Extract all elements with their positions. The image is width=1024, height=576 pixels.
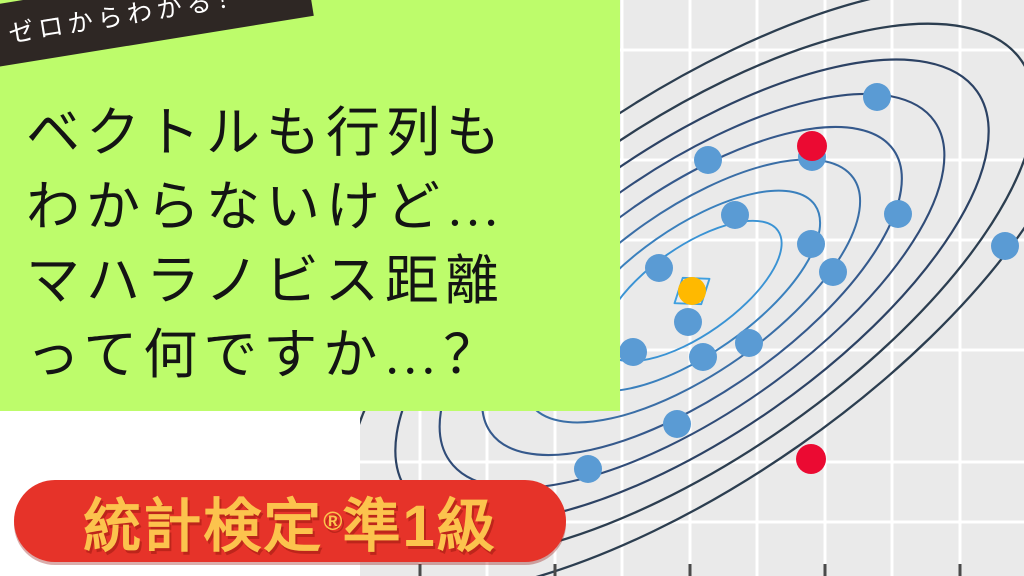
data-point-observations-1 [694, 146, 722, 174]
data-point-outliers-0 [797, 131, 827, 161]
data-point-observations-5 [645, 254, 673, 282]
data-point-observations-13 [663, 410, 691, 438]
data-point-observations-7 [819, 258, 847, 286]
data-point-observations-4 [721, 201, 749, 229]
data-point-observations-12 [735, 329, 763, 357]
scatter-points [574, 83, 1019, 483]
data-point-observations-10 [619, 338, 647, 366]
data-point-observations-14 [574, 455, 602, 483]
badge-text-secondary: 準1級 [342, 479, 496, 563]
data-point-observations-6 [797, 230, 825, 258]
data-point-outliers-1 [796, 444, 826, 474]
badge-text-primary: 統計検定 [83, 479, 323, 563]
data-point-observations-0 [863, 83, 891, 111]
data-point-centroid-0 [678, 277, 706, 305]
data-point-observations-3 [884, 200, 912, 228]
data-point-observations-8 [674, 308, 702, 336]
page-title: ベクトルも行列も わからないけど… マハラノビス距離 って何ですか…？ [26, 96, 598, 392]
certification-badge-label: 統計検定®準1級 [14, 480, 566, 562]
thumbnail-canvas: ベクトルも行列も わからないけど… マハラノビス距離 って何ですか…？ ゼロから… [0, 0, 1024, 576]
headline-block: ベクトルも行列も わからないけど… マハラノビス距離 って何ですか…？ [0, 0, 620, 411]
data-point-observations-11 [689, 343, 717, 371]
data-point-observations-9 [991, 232, 1019, 260]
certification-badge: 統計検定®準1級 [14, 480, 566, 562]
x-axis-ticks [420, 564, 960, 576]
registered-trademark-icon: ® [323, 506, 342, 537]
